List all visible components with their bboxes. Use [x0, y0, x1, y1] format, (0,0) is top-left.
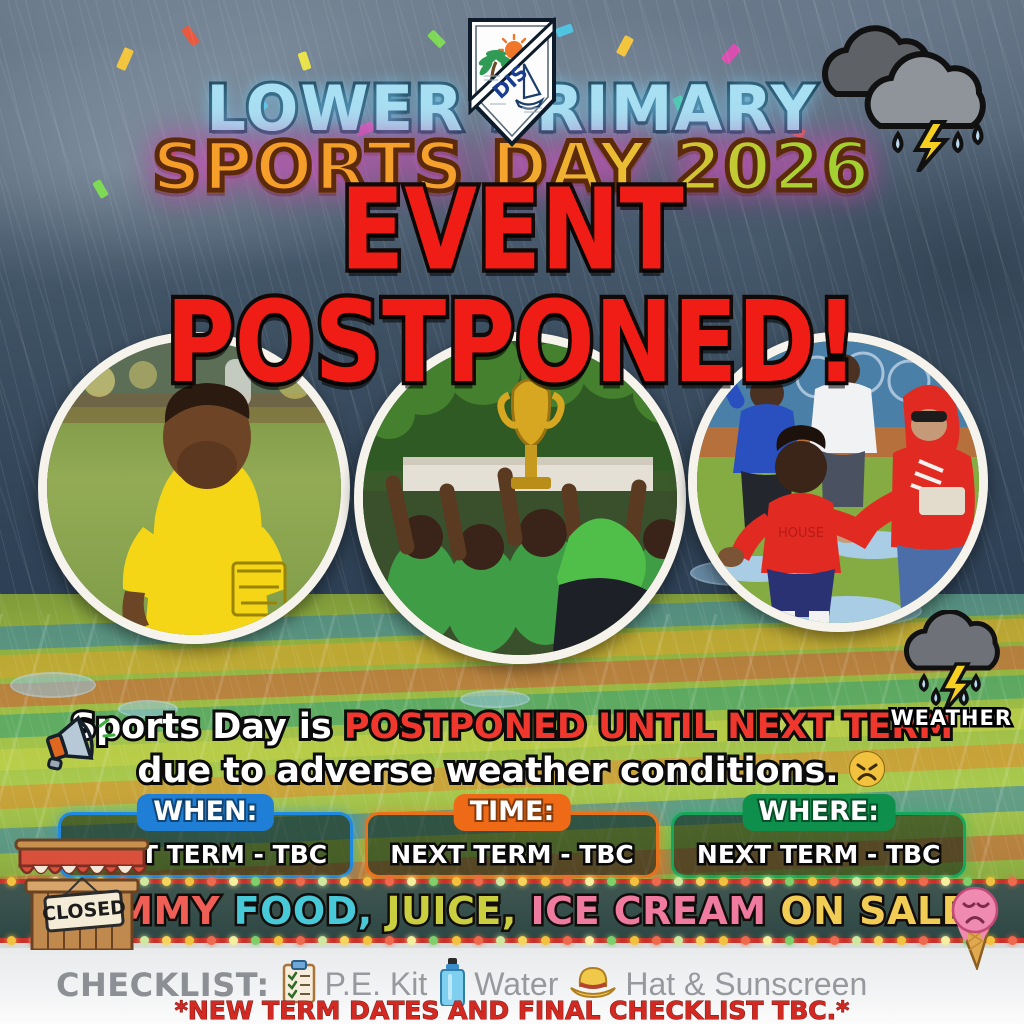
sad-face-icon [847, 749, 887, 800]
marquee-bulb [919, 936, 928, 945]
marquee-bulb [340, 877, 349, 886]
message-line-2: due to adverse weather conditions. [0, 749, 1024, 800]
poster-root: DIS LOWER PRIMARY SPORTS DAY [0, 0, 1024, 1024]
info-label-time: TIME: [454, 794, 571, 831]
food-banner-word: ICE CREAM [531, 889, 781, 933]
marquee-bulb [785, 936, 794, 945]
marquee-bulb [785, 877, 794, 886]
marquee-bulb [808, 877, 817, 886]
marquee-bulb [296, 877, 305, 886]
marquee-bulb [496, 936, 505, 945]
marquee-bulb [763, 877, 772, 886]
info-label-when: WHEN: [137, 794, 273, 831]
marquee-bulb [719, 877, 728, 886]
marquee-bulb [630, 877, 639, 886]
marquee-bulb [541, 936, 550, 945]
marquee-bulb [407, 936, 416, 945]
marquee-bulb [830, 877, 839, 886]
marquee-bulb [407, 877, 416, 886]
info-value-time: NEXT TERM - TBC [390, 840, 634, 869]
marquee-bulb [852, 877, 861, 886]
event-details-row: WHEN: NEXT TERM - TBC TIME: NEXT TERM - … [58, 812, 966, 878]
marquee-bulb [607, 877, 616, 886]
marquee-bulb [274, 877, 283, 886]
message-reason: due to adverse weather conditions. [137, 751, 838, 791]
marquee-bulb [763, 936, 772, 945]
lightning-bolt-icon [916, 122, 946, 172]
marquee-bulb [741, 877, 750, 886]
marquee-bulb [585, 877, 594, 886]
marquee-bulb [207, 877, 216, 886]
marquee-bulb [340, 936, 349, 945]
marquee-bulb [518, 936, 527, 945]
checklist-footnote: *NEW TERM DATES AND FINAL CHECKLIST TBC.… [0, 996, 1024, 1024]
puddle [10, 672, 96, 698]
marquee-bulb [607, 936, 616, 945]
marquee-bulb [719, 936, 728, 945]
marquee-bulb [652, 877, 661, 886]
marquee-bulb [852, 936, 861, 945]
marquee-bulb [674, 877, 683, 886]
marquee-bulb [585, 936, 594, 945]
food-banner-text: YUMMY FOOD, JUICE, ICE CREAM ON SALE [56, 889, 968, 933]
marquee-bulb [385, 936, 394, 945]
marquee-bulb [363, 877, 372, 886]
marquee-bulb [185, 936, 194, 945]
marquee-bulb [696, 936, 705, 945]
marquee-bulb [162, 877, 171, 886]
marquee-bulb [652, 936, 661, 945]
marquee-bulb [251, 877, 260, 886]
marquee-bulb [229, 877, 238, 886]
message-line-1: Sports Day is POSTPONED UNTIL NEXT TERM [0, 706, 1024, 749]
info-card-where[interactable]: WHERE: NEXT TERM - TBC [671, 812, 966, 878]
alert-event-postponed: EVENT POSTPONED! [0, 175, 1024, 399]
school-crest-icon: DIS [466, 16, 558, 148]
marquee-bulb [385, 877, 394, 886]
marquee-bulb [630, 936, 639, 945]
sad-ice-cream-icon [940, 880, 1010, 970]
marquee-bulb [162, 936, 171, 945]
info-value-where: NEXT TERM - TBC [697, 840, 941, 869]
marquee-bulb [452, 936, 461, 945]
marquee-bulb [429, 936, 438, 945]
food-banner-word: JUICE, [386, 889, 530, 933]
food-banner-word: FOOD, [234, 889, 387, 933]
market-stall-closed-icon: CLOSED [6, 832, 158, 950]
marquee-bulb [919, 877, 928, 886]
megaphone-icon [42, 708, 122, 778]
marquee-bulb [296, 936, 305, 945]
marquee-bulb [429, 877, 438, 886]
marquee-bulb [897, 877, 906, 886]
marquee-bulb [874, 877, 883, 886]
svg-text:HOUSE: HOUSE [778, 526, 824, 541]
marquee-bulb [452, 877, 461, 886]
marquee-bulb [830, 936, 839, 945]
marquee-bulb [741, 936, 750, 945]
marquee-bulb [674, 936, 683, 945]
weather-label: WEATHER [890, 706, 1012, 730]
info-card-time[interactable]: TIME: NEXT TERM - TBC [365, 812, 660, 878]
marquee-bulb [229, 936, 238, 945]
marquee-bulb [318, 877, 327, 886]
marquee-bulb [207, 936, 216, 945]
marquee-bulb [274, 936, 283, 945]
marquee-bulb [541, 877, 550, 886]
marquee-bulb [363, 936, 372, 945]
storm-cloud-icon [808, 22, 1018, 172]
message-highlight: POSTPONED UNTIL NEXT TERM [344, 707, 953, 747]
marquee-bulb [318, 936, 327, 945]
marquee-bulb [474, 877, 483, 886]
marquee-bulb [474, 936, 483, 945]
marquee-bulb [518, 877, 527, 886]
marquee-bulb [874, 936, 883, 945]
marquee-bulb [251, 936, 260, 945]
marquee-bulb [496, 877, 505, 886]
marquee-bulb [897, 936, 906, 945]
postponement-message: Sports Day is POSTPONED UNTIL NEXT TERM … [0, 706, 1024, 799]
marquee-bulb [185, 877, 194, 886]
marquee-bulb [696, 877, 705, 886]
marquee-bulb [563, 877, 572, 886]
marquee-bulb [808, 936, 817, 945]
info-label-where: WHERE: [742, 794, 895, 831]
marquee-bulb [563, 936, 572, 945]
weather-storm-icon [898, 610, 1008, 720]
